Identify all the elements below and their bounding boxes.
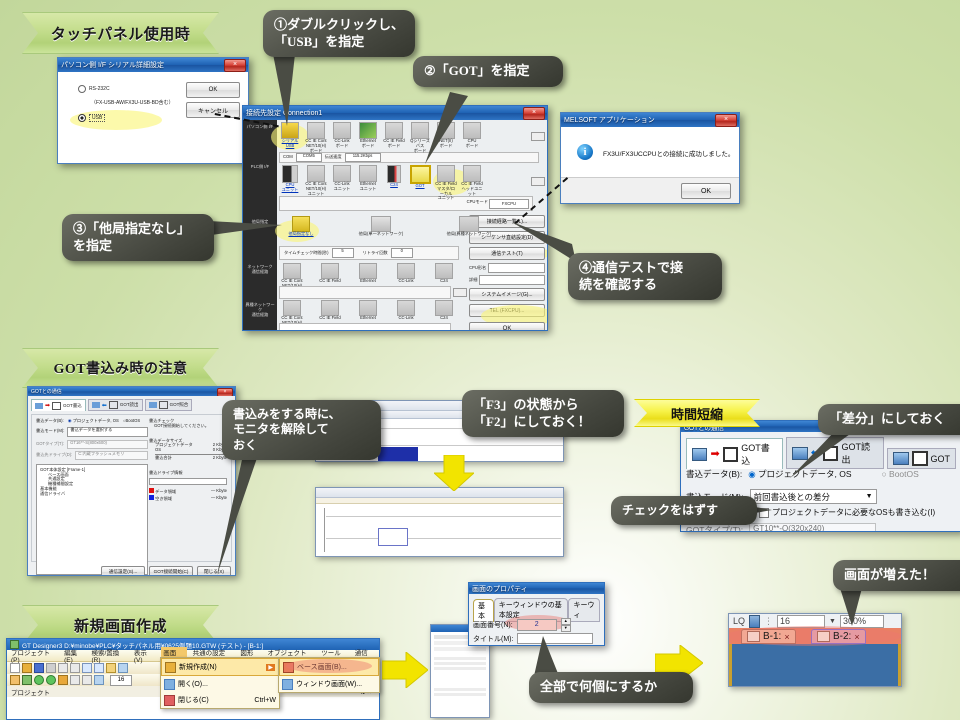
callout-screen-added: 画面が増えた！ [833, 560, 960, 591]
radio-usb-label: USB [89, 114, 105, 122]
menu-view[interactable]: 表示(V) [134, 647, 155, 664]
network-item-ccie-field[interactable]: CC IE Field [317, 263, 343, 289]
got-comm-title: GOTとの通信 [31, 388, 62, 395]
plc-if-item-cpu[interactable]: CPU ユニット [279, 165, 301, 201]
network-detail-box [279, 286, 451, 299]
monitor-icon [692, 448, 707, 461]
callout-step2: ②「GOT」を指定 [413, 56, 563, 87]
detail-label: 詳細 [469, 278, 477, 283]
paste-icon[interactable] [70, 663, 80, 673]
chevron-right-icon: ▶ [266, 664, 275, 671]
banner-text: 時間短縮 [671, 404, 723, 423]
network-item-cclink[interactable]: CC-Link [393, 263, 419, 289]
close-icon [164, 695, 175, 706]
redo-icon[interactable] [94, 663, 104, 673]
melsoft-message-dialog: MELSOFT アプリケーション × i FX3U/FX3UCCPUとの接続に成… [560, 112, 740, 204]
section-title: タッチパネル使用時 [51, 23, 191, 44]
tab-b1[interactable]: B-1: × [741, 629, 796, 644]
com-row: COM COM5 伝送速度 115.2Kbps [279, 152, 539, 163]
radio-rs232c-label: RS-232C [89, 86, 110, 92]
got-comm-tabs: ➡ GOT書込 ⬅ GOT読出 GOT照合 [31, 399, 232, 411]
other-network-item-cclink[interactable]: CC-Link [393, 300, 419, 326]
monitor-icon [35, 403, 43, 409]
network-row: CC IE Cont NET/10(H) CC IE Field Etherne… [279, 263, 457, 289]
callout-use-difference-tail [780, 430, 850, 480]
got-drive-row: 書込先ドライブ(D): C:内蔵フラッシュメモリ [36, 451, 148, 460]
connection-dialog-body: パソコン側 I/F PLC側 I/F 他局指定 ネットワーク 通信経路 異種ネッ… [243, 120, 547, 330]
screen-canvas[interactable] [729, 644, 901, 687]
zoom-icon[interactable] [94, 675, 104, 685]
serial-dialog-titlebar: パソコン側 I/F シリアル詳細設定 × [58, 58, 248, 72]
section-title: 新規画面作成 [74, 615, 167, 636]
timecheck-row: タイムチェック時間(秒) 5 リトライ回数 0 [279, 246, 459, 260]
close-icon[interactable]: × [784, 632, 789, 642]
com-value[interactable]: COM5 [296, 153, 322, 162]
cpu-mode-value[interactable]: FXCPU [489, 199, 529, 209]
screen-property-title: 画面のプロパティ [472, 584, 528, 594]
base-screen-icon [283, 662, 294, 673]
callout-text: 「F3」の状態から 「F2」にしておく！ [473, 397, 613, 430]
callout-how-many: 全部で何個にするか [529, 672, 693, 703]
menu-item-open[interactable]: 開く(O)... [161, 676, 279, 692]
window-screen-icon [282, 679, 293, 690]
got-icon [159, 401, 168, 409]
sidebar-item-plc-if[interactable]: PLC側 I/F [244, 165, 276, 170]
ladder-cursor-block [378, 447, 418, 462]
write-data-row: 書込データ(B): ◉ プロジェクトデータ, OS ○BootOS [36, 419, 148, 424]
tab-b2[interactable]: B-2: × [811, 629, 866, 644]
image-icon[interactable] [58, 675, 68, 685]
station-row: 他局指定なし 他局(単一ネットワーク) 他局(異種ネットワーク) [279, 216, 499, 237]
station-item-single[interactable]: 他局(単一ネットワーク) [351, 216, 411, 237]
shape-icon[interactable] [22, 675, 32, 685]
callout-text: ①ダブルクリックし、 「USB」を指定 [274, 17, 404, 50]
plc-if-scroll[interactable] [531, 177, 545, 186]
serial-note: （FX-USB-AW/FX3U-USB-BD含む） [91, 99, 174, 106]
title-label: タイトル(M): [473, 634, 513, 644]
network-item-c24[interactable]: C24 [431, 263, 457, 289]
menu-item-new[interactable]: 新規作成(N) ▶ [161, 658, 279, 676]
plc-if-item-ccie-field-master[interactable]: CC IE Field マスタ/ローカル ユニット [435, 165, 457, 201]
status-box: 自局アクセス中です。 [279, 323, 451, 331]
tel-button[interactable]: TEL (FXCPU)... [469, 304, 545, 317]
got-type-select[interactable]: GT10**-Q(320x240) [749, 523, 876, 532]
open-icon [164, 679, 175, 690]
close-icon[interactable]: × [854, 632, 859, 642]
grid-icon[interactable] [70, 675, 80, 685]
copy-icon[interactable] [58, 663, 68, 673]
ellipse-icon[interactable] [46, 675, 56, 685]
save-icon[interactable] [34, 663, 44, 673]
network-scroll[interactable] [453, 288, 467, 297]
circle-icon[interactable] [34, 675, 44, 685]
got-comm-left-col: 書込データ(B): ◉ プロジェクトデータ, OS ○BootOS 書込モード(… [36, 419, 148, 576]
plc-if-item-cclink[interactable]: CC-Link ユニット [331, 165, 353, 201]
serial-dialog-title: パソコン側 I/F シリアル詳細設定 [61, 60, 164, 70]
melsoft-dialog-title: MELSOFT アプリケーション [564, 115, 655, 125]
arrow-left-icon: ⬅ [102, 402, 107, 409]
menu-edit[interactable]: 編集(E) [64, 647, 85, 664]
melsoft-dialog-titlebar: MELSOFT アプリケーション × [561, 113, 739, 127]
detail-value[interactable] [479, 275, 545, 285]
tab-strip: B-1: × B-2: × [729, 628, 901, 644]
close-icon[interactable]: × [224, 59, 246, 72]
callout-f3-to-f2: 「F3」の状態から 「F2」にしておく！ [462, 390, 624, 437]
submenu-item-base-screen[interactable]: ベース画面(B)... [279, 658, 379, 676]
ladder-screenshot-f2 [315, 487, 564, 557]
got-connect-button[interactable]: GOT接続開始(C) [149, 566, 193, 576]
radio-icon [78, 85, 86, 93]
plc-if-item-ethernet[interactable]: Ethernet ユニット [357, 165, 379, 201]
got-icon [723, 447, 739, 462]
arrow-right-icon: ➡ [710, 450, 719, 458]
serial-dialog-body: RS-232C （FX-USB-AW/FX3U-USB-BD含む） USB OK… [58, 72, 248, 164]
screen-number-label: 画面番号(N): [473, 620, 513, 630]
station-item-other[interactable]: 他局(異種ネットワーク) [439, 216, 499, 237]
melsoft-message-text: FX3U/FX3UCCPUとの接続に成功しました。 [603, 148, 734, 158]
callout-step4: ④通信テストで接 続を確認する [568, 253, 722, 300]
retry-label: リトライ回数 [363, 251, 388, 256]
submenu-item-window-screen[interactable]: ウィンドウ画面(W)... [279, 676, 379, 692]
sidebar-item-network[interactable]: ネットワーク 通信経路 [244, 265, 276, 275]
network-item-ethernet[interactable]: Ethernet [355, 263, 381, 289]
network-item-ccie[interactable]: CC IE Cont NET/10(H) [279, 263, 305, 289]
arrow-right-icon: ➡ [45, 402, 50, 409]
callout-step2-tail [410, 92, 470, 167]
monitor-icon [92, 402, 100, 408]
screen-tab-bar-result: LQ ⋮ 16 ▼ 300% B-1: × B-2: × [728, 613, 902, 687]
pc-if-scroll[interactable] [531, 132, 545, 141]
callout-text: ④通信テストで接 続を確認する [579, 260, 711, 293]
got-icon [52, 402, 61, 410]
callout-step1-tail [265, 54, 310, 129]
got-data-tree[interactable]: GOT本体設定 [Frame-1] ベース画面 共通設定 機種補間設定 基本機能… [36, 464, 148, 575]
info-icon: i [577, 144, 593, 160]
screen-number-input[interactable]: 2 [517, 619, 557, 631]
ok-button[interactable]: OK [681, 183, 731, 199]
callout-text: 全部で何個にするか [540, 679, 682, 696]
serial-detail-dialog: パソコン側 I/F シリアル詳細設定 × RS-232C （FX-USB-AW/… [57, 57, 249, 164]
chevron-down-icon: ▼ [866, 493, 876, 500]
base-screen-icon [747, 631, 760, 642]
arrow-right-icon-1 [382, 652, 428, 688]
time-reduction-banner: 時間短縮 [634, 399, 760, 427]
system-image-button[interactable]: システムイメージ(G)... [469, 288, 545, 301]
got-comm-titlebar: GOTとの通信 × [28, 387, 235, 396]
menu-shortcut: Ctrl+W [254, 697, 276, 704]
pc-if-item-ccie-field[interactable]: CC IE Field ボード [383, 122, 405, 153]
menu-item-close[interactable]: 閉じる(C) Ctrl+W [161, 692, 279, 708]
tab-got-read[interactable]: ⬅ GOT読出 [88, 399, 143, 411]
callout-text: チェックをはずす [622, 503, 746, 518]
callout-screen-added-tail [820, 588, 865, 628]
callout-text: 画面が増えた！ [844, 567, 960, 584]
section-title: GOT書込み時の注意 [53, 358, 187, 378]
menu-search[interactable]: 検索/置換(R) [91, 647, 127, 664]
tab-got-verify[interactable]: GOT照合 [145, 399, 193, 411]
callout-release-monitor: 書込みをする時に、 モニタを解除して おく [222, 400, 381, 460]
select-icon[interactable] [106, 663, 116, 673]
radio-icon: ○ [882, 469, 887, 479]
legend-swatch-free [149, 495, 154, 500]
monitor-icon [893, 452, 909, 465]
timecheck-label: タイムチェック時間(秒) [284, 251, 329, 256]
cpu-type-label: CPU形名 [469, 266, 486, 271]
baud-value[interactable]: 115.2Kbps [345, 153, 381, 162]
close-icon[interactable]: × [523, 107, 545, 120]
melsoft-message-area: i FX3U/FX3UCCPUとの接続に成功しました。 [561, 127, 739, 178]
plc-if-item-ccie-field-head[interactable]: CC IE Field ヘッドユニット [461, 165, 483, 201]
tab-got-verify[interactable]: GOT [887, 448, 957, 469]
callout-uncheck: チェックをはずす [611, 496, 757, 525]
section-banner-got-write: GOT書込み時の注意 [22, 348, 219, 388]
radio-rs232c[interactable]: RS-232C [78, 85, 110, 93]
plc-if-item-c24[interactable]: C24 [383, 165, 405, 201]
screen-number-row: 画面番号(N): 2 ▲ ▼ [473, 618, 571, 632]
screen-property-titlebar: 画面のプロパティ [469, 583, 604, 594]
retry-value[interactable]: 0 [391, 248, 413, 258]
com-label: COM [283, 155, 293, 160]
tab-bar-toolbar: LQ ⋮ 16 ▼ 300% [729, 614, 901, 628]
screen-icon[interactable] [10, 675, 20, 685]
size-value[interactable]: 16 [777, 615, 825, 628]
sidebar-item-other-network[interactable]: 異種ネットワーク 通信経路 [244, 303, 276, 317]
write-os-checkbox[interactable]: プロジェクトデータに必要なOSも書き込む(I) [759, 507, 935, 518]
cut-icon[interactable] [46, 663, 56, 673]
new-icon [165, 662, 176, 673]
close-icon[interactable]: × [715, 114, 737, 127]
radio-selected-icon: ◉ [748, 469, 755, 479]
plc-if-item-ccie[interactable]: CC IE Cont NET/10(H) ユニット [305, 165, 327, 201]
base-screen-icon [817, 631, 830, 642]
new-icon[interactable] [10, 663, 20, 673]
station-item-none[interactable]: 他局指定なし [279, 216, 323, 237]
zoom-icon[interactable]: LQ [733, 616, 745, 626]
got-icon [109, 401, 118, 409]
radio-selected-icon: ◉ [68, 418, 72, 423]
menu-project[interactable]: プロジェクト(P) [11, 647, 58, 664]
got-type-row: GOTタイプ(T): GT16**-S(800x600) [36, 440, 148, 449]
callout-text: ③「他局指定なし」 を指定 [73, 221, 203, 254]
got-icon [912, 451, 928, 466]
got-drive-select[interactable]: C:内蔵フラッシュメモリ [75, 451, 148, 460]
section-banner-touch-panel: タッチパネル使用時 [22, 12, 219, 54]
callout-text: ②「GOT」を指定 [424, 63, 552, 80]
other-network-item-ethernet[interactable]: Ethernet [355, 300, 381, 326]
pc-if-item-ethernet[interactable]: Ethernet ボード [357, 122, 379, 153]
connection-setup-dialog: 接続先設定 Connection1 × パソコン側 I/F PLC側 I/F 他… [242, 105, 548, 331]
baud-label: 伝送速度 [325, 155, 342, 160]
other-network-item-ccie[interactable]: CC IE Cont NET/10(H) [279, 300, 305, 326]
zoom-value-input[interactable]: 16 [110, 675, 132, 686]
callout-text: 書込みをする時に、 モニタを解除して おく [233, 407, 370, 453]
callout-text: 「差分」にしておく [829, 411, 960, 428]
callout-release-monitor-tail [195, 455, 260, 580]
got-type-select[interactable]: GT16**-S(800x600) [67, 440, 148, 449]
plc-if-row: CPU ユニット CC IE Cont NET/10(H) ユニット CC-Li… [279, 165, 483, 201]
ladder-cursor-box [378, 528, 408, 546]
rect-icon[interactable] [82, 675, 92, 685]
callout-use-difference: 「差分」にしておく [818, 404, 960, 435]
legend-swatch-data [149, 488, 154, 493]
plc-if-item-got[interactable]: GOT [409, 165, 431, 201]
timecheck-value[interactable]: 5 [332, 248, 354, 258]
open-icon[interactable] [22, 663, 32, 673]
screen-number-stepper[interactable]: ▲ ▼ [561, 618, 571, 632]
gt-designer-submenu: ベース画面(B)... ウィンドウ画面(W)... [278, 657, 380, 693]
tab-keywindow-more[interactable]: キーウィ [568, 598, 600, 622]
ok-button[interactable]: OK [469, 322, 545, 331]
write-mode-row: 書込モード(M): 書込データを選択する [36, 427, 148, 437]
monitor-icon [149, 402, 157, 408]
other-network-row: CC IE Cont NET/10(H) CC IE Field Etherne… [279, 300, 457, 326]
callout-step3: ③「他局指定なし」 を指定 [62, 214, 214, 261]
other-network-item-ccie-field[interactable]: CC IE Field [317, 300, 343, 326]
tree-item[interactable]: 通信ドライバ [40, 492, 144, 497]
callout-step1: ①ダブルクリックし、 「USB」を指定 [263, 10, 415, 57]
project-panel-label: プロジェクト [11, 687, 50, 697]
comm-settings-button[interactable]: 通信設定(S)... [101, 566, 145, 576]
tab-got-write[interactable]: ➡ GOT書込 [31, 399, 86, 411]
write-mode-select[interactable]: 書込データを選択する [67, 427, 148, 437]
pc-if-item-cclink[interactable]: CC-Link ボード [331, 122, 353, 153]
ok-button[interactable]: OK [186, 82, 240, 98]
dropdown-handle-icon[interactable] [749, 615, 760, 628]
radio-usb[interactable]: USB [78, 114, 105, 122]
pointer-icon[interactable] [118, 663, 128, 673]
melsoft-button-area: OK [561, 178, 739, 202]
arrow-down-icon [434, 455, 474, 491]
undo-icon[interactable] [82, 663, 92, 673]
tab-got-write[interactable]: ➡ GOT書込 [686, 438, 783, 469]
gt-designer-open-menu: 新規作成(N) ▶ 開く(O)... 閉じる(C) Ctrl+W [160, 657, 280, 709]
check-text: GOT接続開始してください。 [149, 424, 227, 429]
radio-bootos[interactable]: ○ BootOS [882, 469, 919, 479]
other-network-item-c24[interactable]: C24 [431, 300, 457, 326]
radio-icon [78, 114, 86, 122]
